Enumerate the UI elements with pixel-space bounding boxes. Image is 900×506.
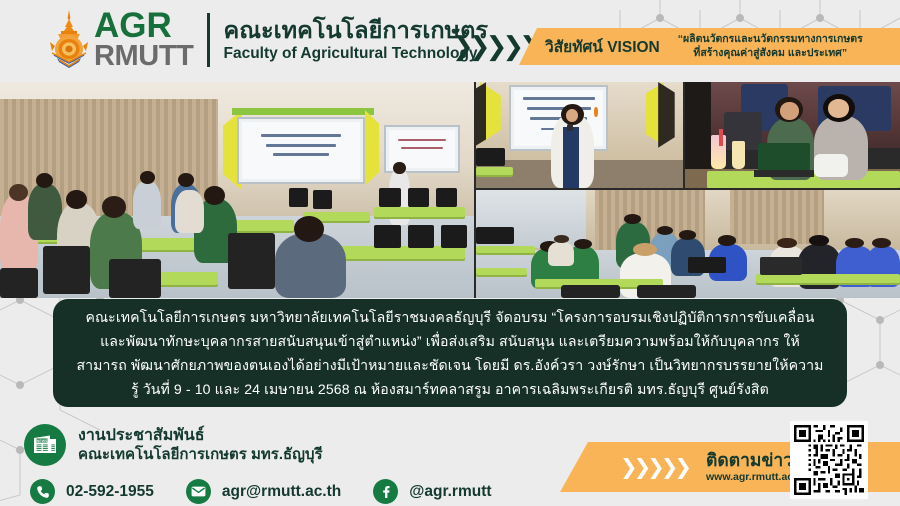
contact-facebook[interactable]: @agr.rmutt: [373, 479, 491, 504]
phone-icon: [30, 479, 55, 504]
pr-line-1: งานประชาสัมพันธ์: [78, 426, 323, 446]
photo-classroom-wide: [0, 82, 474, 298]
photo-speaker-presenting: [476, 82, 683, 188]
envelope-icon: [186, 479, 211, 504]
facebook-icon: [373, 479, 398, 504]
photo-collage: [0, 82, 900, 298]
header-divider: [207, 13, 210, 67]
announcement-textbox: คณะเทคโนโลยีการเกษตร มหาวิทยาลัยเทคโนโลย…: [53, 299, 847, 407]
brand-acronym: AGR RMUTT: [94, 10, 193, 70]
contact-phone[interactable]: 02-592-1955: [30, 479, 154, 504]
faculty-name-en: Faculty of Agricultural Technology: [223, 45, 488, 62]
vision-quote-line1: “ผลิตนวัตกรและนวัตกรรมทางการเกษตร: [678, 33, 863, 46]
photo-group-discussion: [476, 190, 900, 298]
rmutt-emblem-icon: [48, 9, 90, 71]
faculty-name-th: คณะเทคโนโลยีการเกษตร: [223, 17, 488, 43]
follow-chevrons-icon: ❯❯❯❯❯: [620, 455, 688, 479]
pr-line-2: คณะเทคโนโลยีการเกษตร มทร.ธัญบุรี: [78, 446, 323, 464]
contact-facebook-text: @agr.rmutt: [409, 483, 491, 501]
pr-department-text: งานประชาสัมพันธ์ คณะเทคโนโลยีการเกษตร มท…: [78, 426, 323, 464]
contact-email-text: agr@rmutt.ac.th: [222, 483, 341, 501]
logo-rmutt-text: RMUTT: [94, 43, 193, 70]
pr-department-block: NEWS งานประชาสัมพันธ์ คณะเทคโนโลยีการเกษ…: [24, 424, 323, 466]
vision-label: วิสัยทัศน์ VISION: [545, 34, 660, 59]
contact-email[interactable]: agr@rmutt.ac.th: [186, 479, 341, 504]
logo-agr-text: AGR: [94, 10, 193, 43]
svg-text:NEWS: NEWS: [37, 439, 48, 443]
vision-quote: “ผลิตนวัตกรและนวัตกรรมทางการเกษตร ที่สร้…: [678, 33, 863, 60]
poster-root: AGR RMUTT คณะเทคโนโลยีการเกษตร Faculty o…: [0, 0, 900, 506]
contact-phone-text: 02-592-1955: [66, 483, 154, 501]
announcement-body: คณะเทคโนโลยีการเกษตร มหาวิทยาลัยเทคโนโลย…: [75, 305, 825, 402]
vision-quote-line2: ที่สร้างคุณค่าสู่สังคม และประเทศ”: [678, 47, 863, 60]
brand-logo-block: AGR RMUTT คณะเทคโนโลยีการเกษตร Faculty o…: [48, 9, 488, 71]
news-icon: NEWS: [24, 424, 66, 466]
contact-list: 02-592-1955 agr@rmutt.ac.th @agr.rm: [30, 479, 524, 504]
photo-two-participants: [685, 82, 900, 188]
vision-banner: วิสัยทัศน์ VISION “ผลิตนวัตกรและนวัตกรรม…: [519, 28, 900, 65]
qr-code-icon[interactable]: [790, 421, 868, 499]
faculty-name-block: คณะเทคโนโลยีการเกษตร Faculty of Agricult…: [223, 17, 488, 63]
